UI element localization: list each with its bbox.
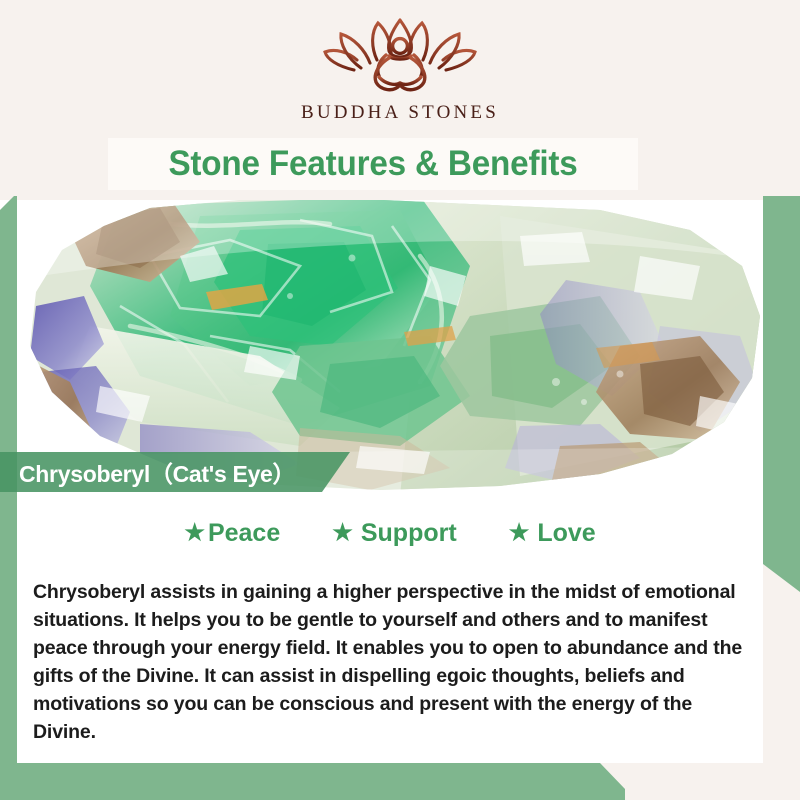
keyword-support: ★ Support <box>332 519 456 548</box>
stone-name: Chrysoberyl（Cat's Eye） <box>19 452 295 492</box>
keyword-peace: ★ Peace <box>184 519 280 548</box>
frame-accent-bottom <box>0 763 625 800</box>
brand-name: BUDDHA STONES <box>301 102 499 124</box>
keyword-label: Love <box>537 519 595 548</box>
keyword-list: ★ Peace ★ Support ★ Love <box>17 512 763 554</box>
stone-info-card: BUDDHA STONES Stone Features & Benefits <box>0 0 800 800</box>
page-title: Stone Features & Benefits <box>121 140 625 188</box>
lotus-meditation-figure-icon <box>315 14 485 100</box>
frame-accent-right <box>763 196 800 592</box>
keyword-love: ★ Love <box>509 519 596 548</box>
description-text: Chrysoberyl assists in gaining a higher … <box>33 578 751 746</box>
star-icon: ★ <box>184 521 205 544</box>
brand-logo: BUDDHA STONES <box>0 14 800 132</box>
star-icon: ★ <box>509 521 530 544</box>
keyword-label: Peace <box>208 519 280 548</box>
star-icon: ★ <box>332 521 353 544</box>
stone-photo <box>0 196 800 496</box>
keyword-label: Support <box>361 519 457 548</box>
